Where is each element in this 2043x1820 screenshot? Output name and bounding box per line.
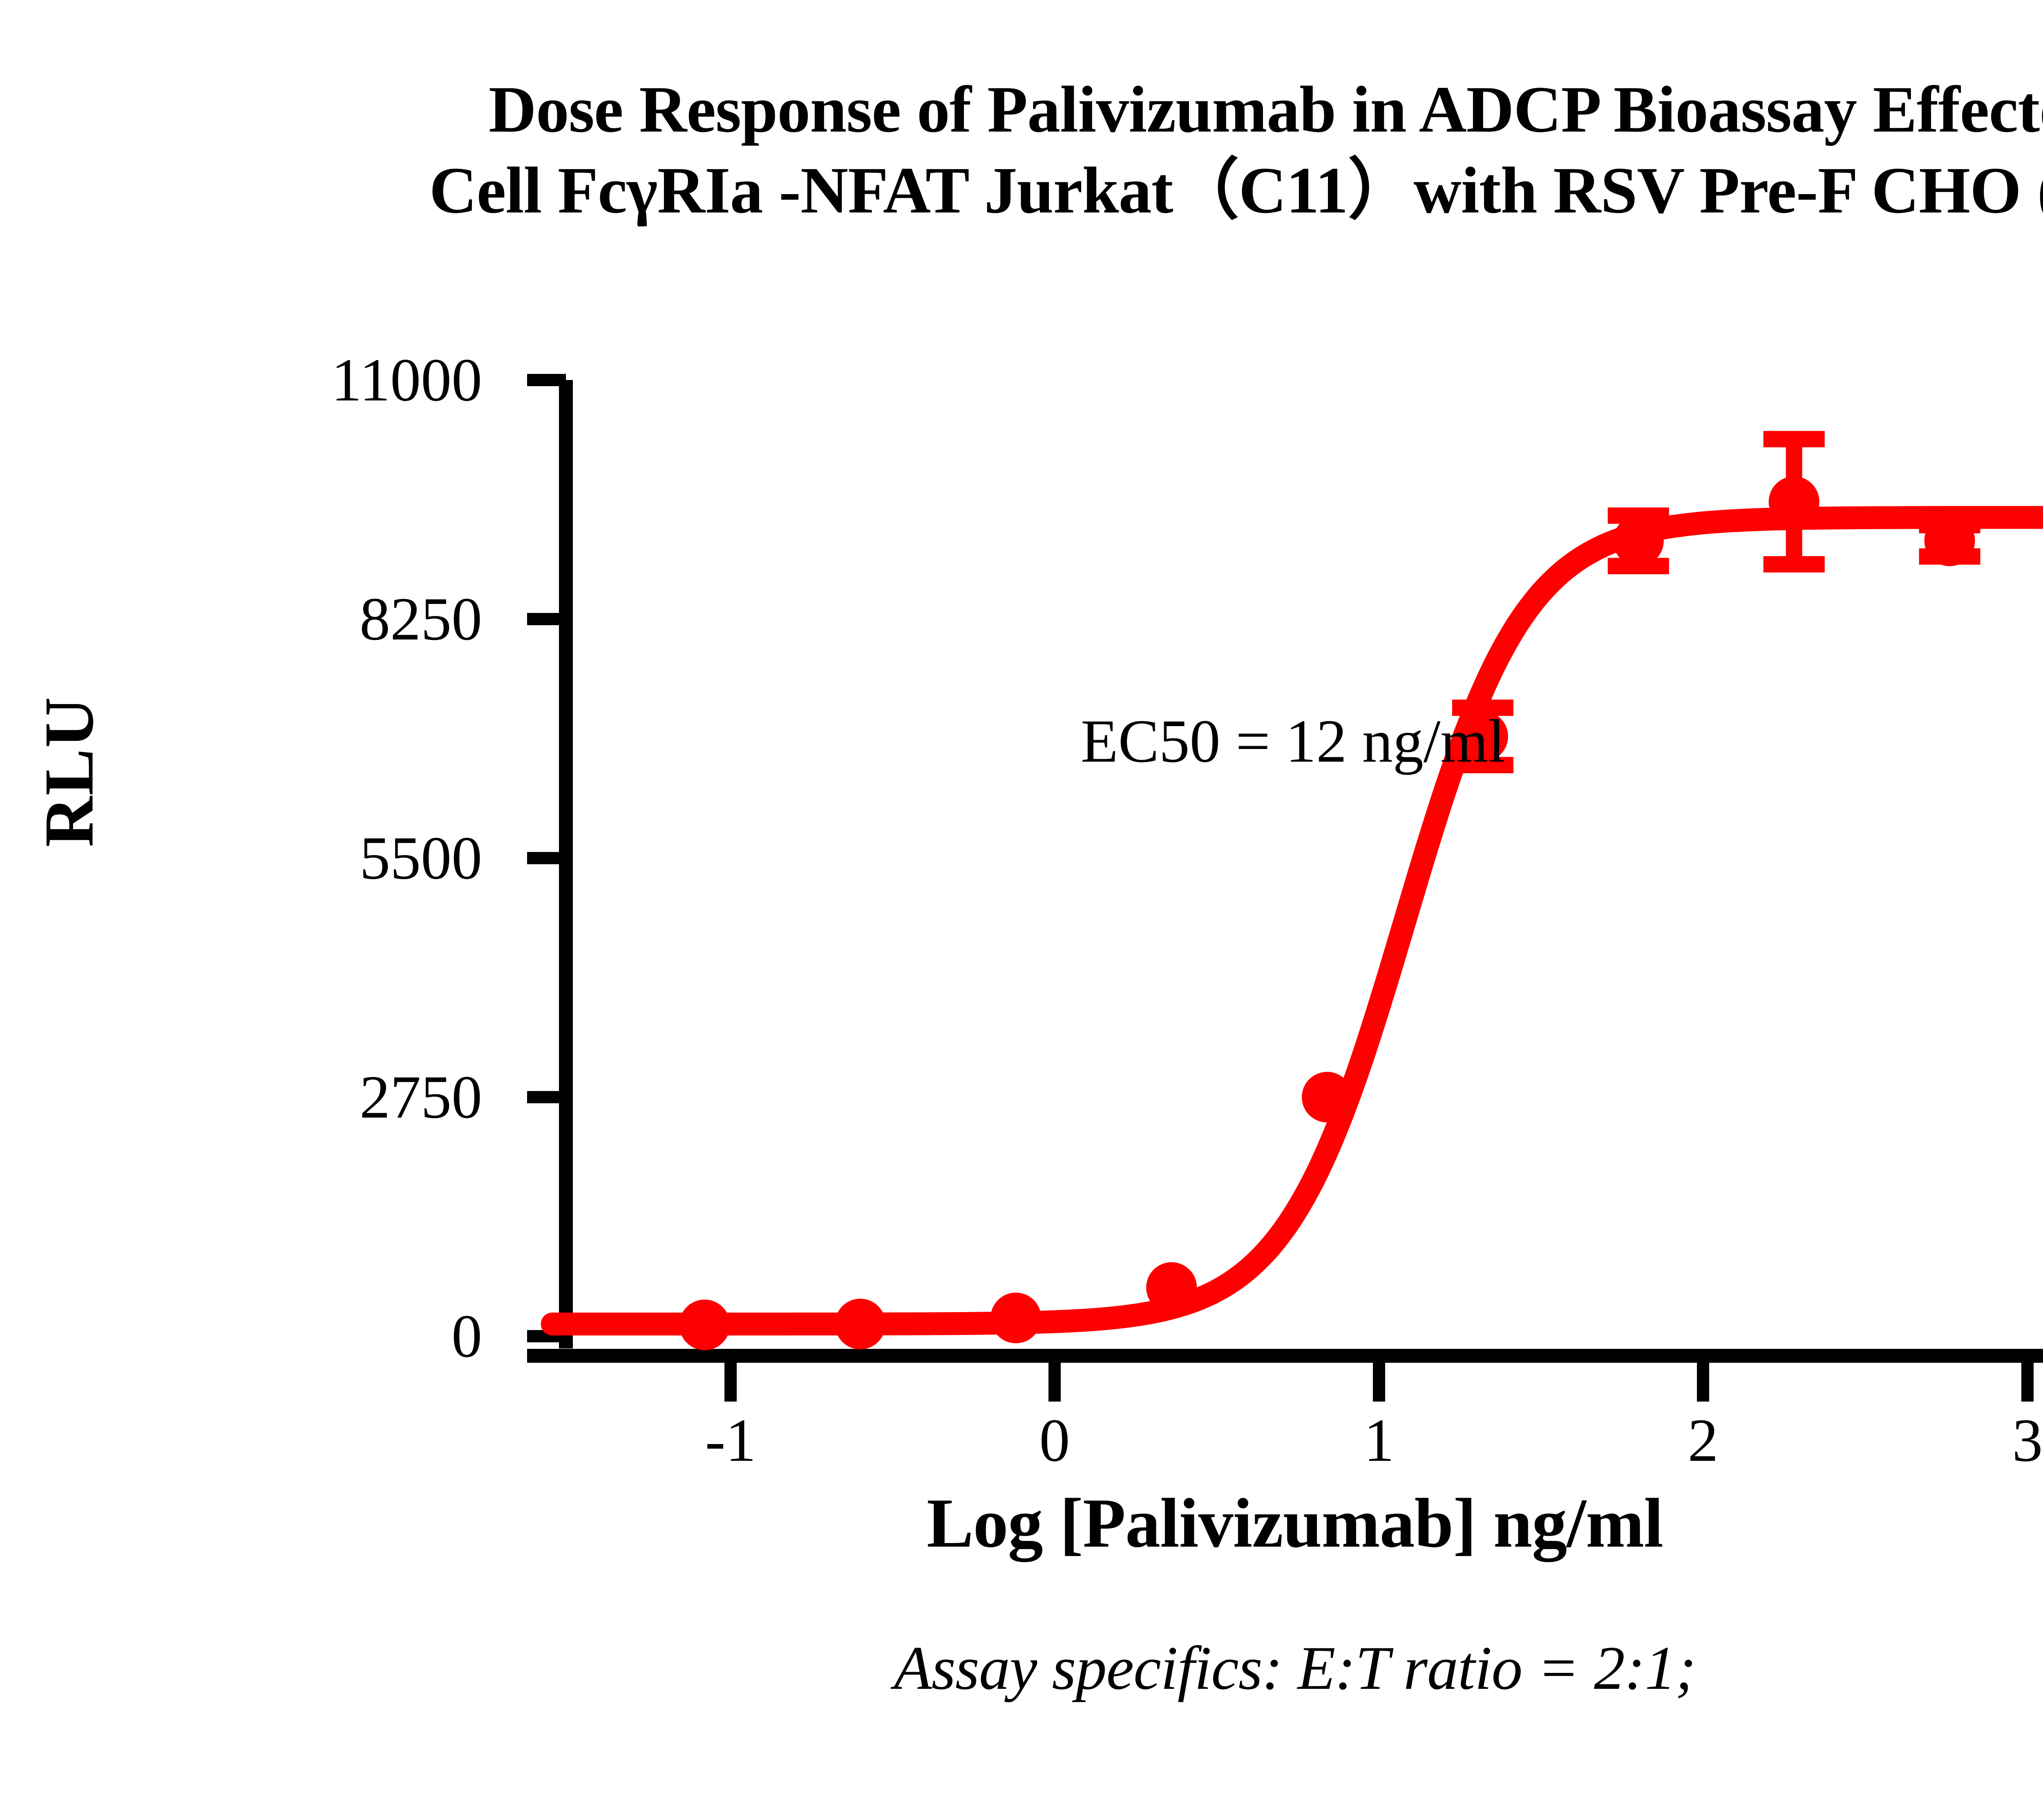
y-tick-label: 8250 — [155, 588, 482, 650]
ec50-annotation: EC50 = 12 ng/ml — [1081, 706, 1505, 776]
data-point-marker — [1146, 1262, 1197, 1313]
data-point-marker — [1769, 476, 1819, 527]
x-tick-label: -1 — [649, 1410, 812, 1471]
x-tick-label: 2 — [1621, 1410, 1785, 1471]
y-tick-label: 0 — [155, 1306, 482, 1367]
data-point-marker — [1925, 516, 1975, 566]
x-tick-label: 3 — [1946, 1410, 2043, 1471]
data-point-marker — [1613, 516, 1664, 566]
data-markers-group — [680, 476, 1975, 1350]
data-point-marker — [1302, 1072, 1352, 1122]
data-point-marker — [835, 1299, 885, 1349]
data-point-marker — [990, 1292, 1041, 1343]
y-tick-label: 2750 — [155, 1067, 482, 1128]
x-axis-title: Log [Palivizumab] ng/ml — [0, 1483, 2043, 1564]
assay-caption: Assay specifics: E:T ratio = 2:1; — [0, 1632, 2043, 1704]
y-tick-label: 5500 — [155, 827, 482, 889]
dose-response-curve — [552, 517, 2043, 1324]
x-tick-label: 0 — [973, 1410, 1136, 1471]
figure-root: Dose Response of Palivizumab in ADCP Bio… — [0, 0, 2043, 1820]
x-tick-label: 1 — [1297, 1410, 1461, 1471]
data-point-marker — [680, 1299, 730, 1350]
y-tick-label: 11000 — [155, 349, 482, 411]
x-axis-ticks — [731, 1363, 2027, 1402]
y-axis-title: RLU — [29, 629, 110, 915]
